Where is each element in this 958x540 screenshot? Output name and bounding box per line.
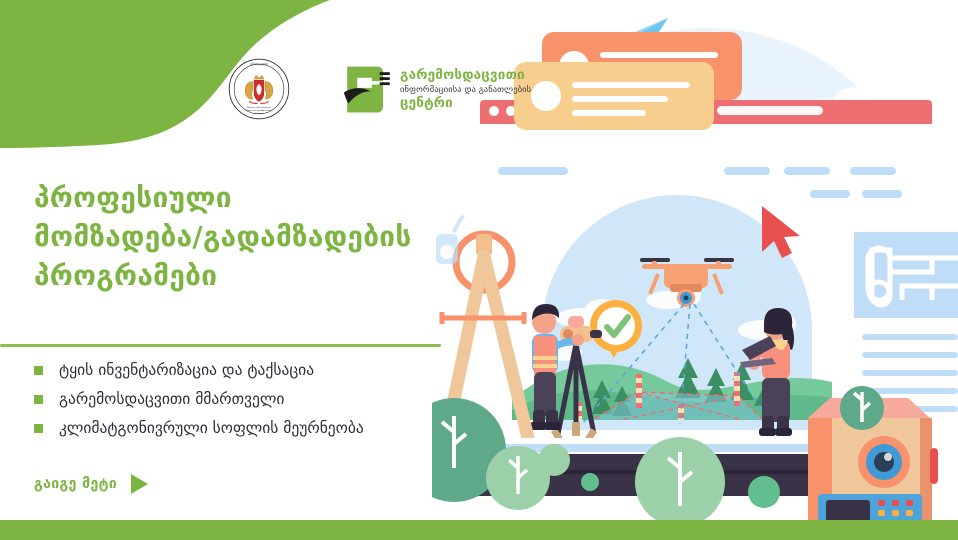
- list-item-label: კლიმატგონივრული სოფლის მეურნეობა: [59, 418, 364, 438]
- list-item: გარემოსდაცვითი მმართველი: [34, 389, 464, 409]
- plant-sprout: [840, 386, 884, 430]
- headline-line-2: მომზადება/გადამზადების: [34, 217, 434, 256]
- yellow-notification-card: [514, 62, 714, 130]
- square-bullet-icon: [34, 424, 43, 433]
- program-list: ტყის ინვენტარიზაცია და ტაქსაცია გარემოსდ…: [34, 360, 464, 447]
- bottom-green-bar: [0, 520, 958, 540]
- page-title: პროფესიული მომზადება/გადამზადების პროგრა…: [34, 178, 434, 295]
- svg-text:Protection and Agriculture: Protection and Agriculture: [246, 109, 273, 112]
- svg-text:საქართველოს: საქართველოს: [250, 63, 268, 66]
- learn-more-label: გაიგე მეტი: [34, 476, 117, 492]
- square-bullet-icon: [34, 395, 43, 404]
- header-logos: საქართველოს Ministry of Environment Prot…: [228, 58, 531, 120]
- environmental-center-logo-icon: [336, 61, 392, 117]
- svg-text:Ministry of Environment: Ministry of Environment: [247, 106, 271, 109]
- divider-line: [0, 344, 441, 347]
- logo-line-1: გარემოსდაცვითი: [400, 68, 531, 83]
- logo-line-3: ცენტრი: [400, 96, 531, 111]
- list-item: კლიმატგონივრული სოფლის მეურნეობა: [34, 418, 464, 438]
- play-triangle-icon: [131, 474, 148, 494]
- headline-line-1: პროფესიული: [34, 178, 434, 217]
- list-item-label: ტყის ინვენტარიზაცია და ტაქსაცია: [59, 360, 314, 380]
- learn-more-button[interactable]: გაიგე მეტი: [34, 474, 148, 494]
- blueprint-icon: [854, 232, 958, 318]
- georgia-coat-of-arms-seal: საქართველოს Ministry of Environment Prot…: [228, 58, 290, 120]
- center-logo: გარემოსდაცვითი ინფორმაციისა და განათლები…: [336, 61, 531, 117]
- headline-line-3: პროგრამები: [34, 256, 434, 295]
- square-bullet-icon: [34, 366, 43, 375]
- svg-text:of Georgia: of Georgia: [254, 112, 265, 115]
- list-item: ტყის ინვენტარიზაცია და ტაქსაცია: [34, 360, 464, 380]
- logo-line-2: ინფორმაციისა და განათლების: [400, 84, 531, 96]
- slide-canvas: საქართველოს Ministry of Environment Prot…: [0, 0, 958, 540]
- list-item-label: გარემოსდაცვითი მმართველი: [59, 389, 284, 409]
